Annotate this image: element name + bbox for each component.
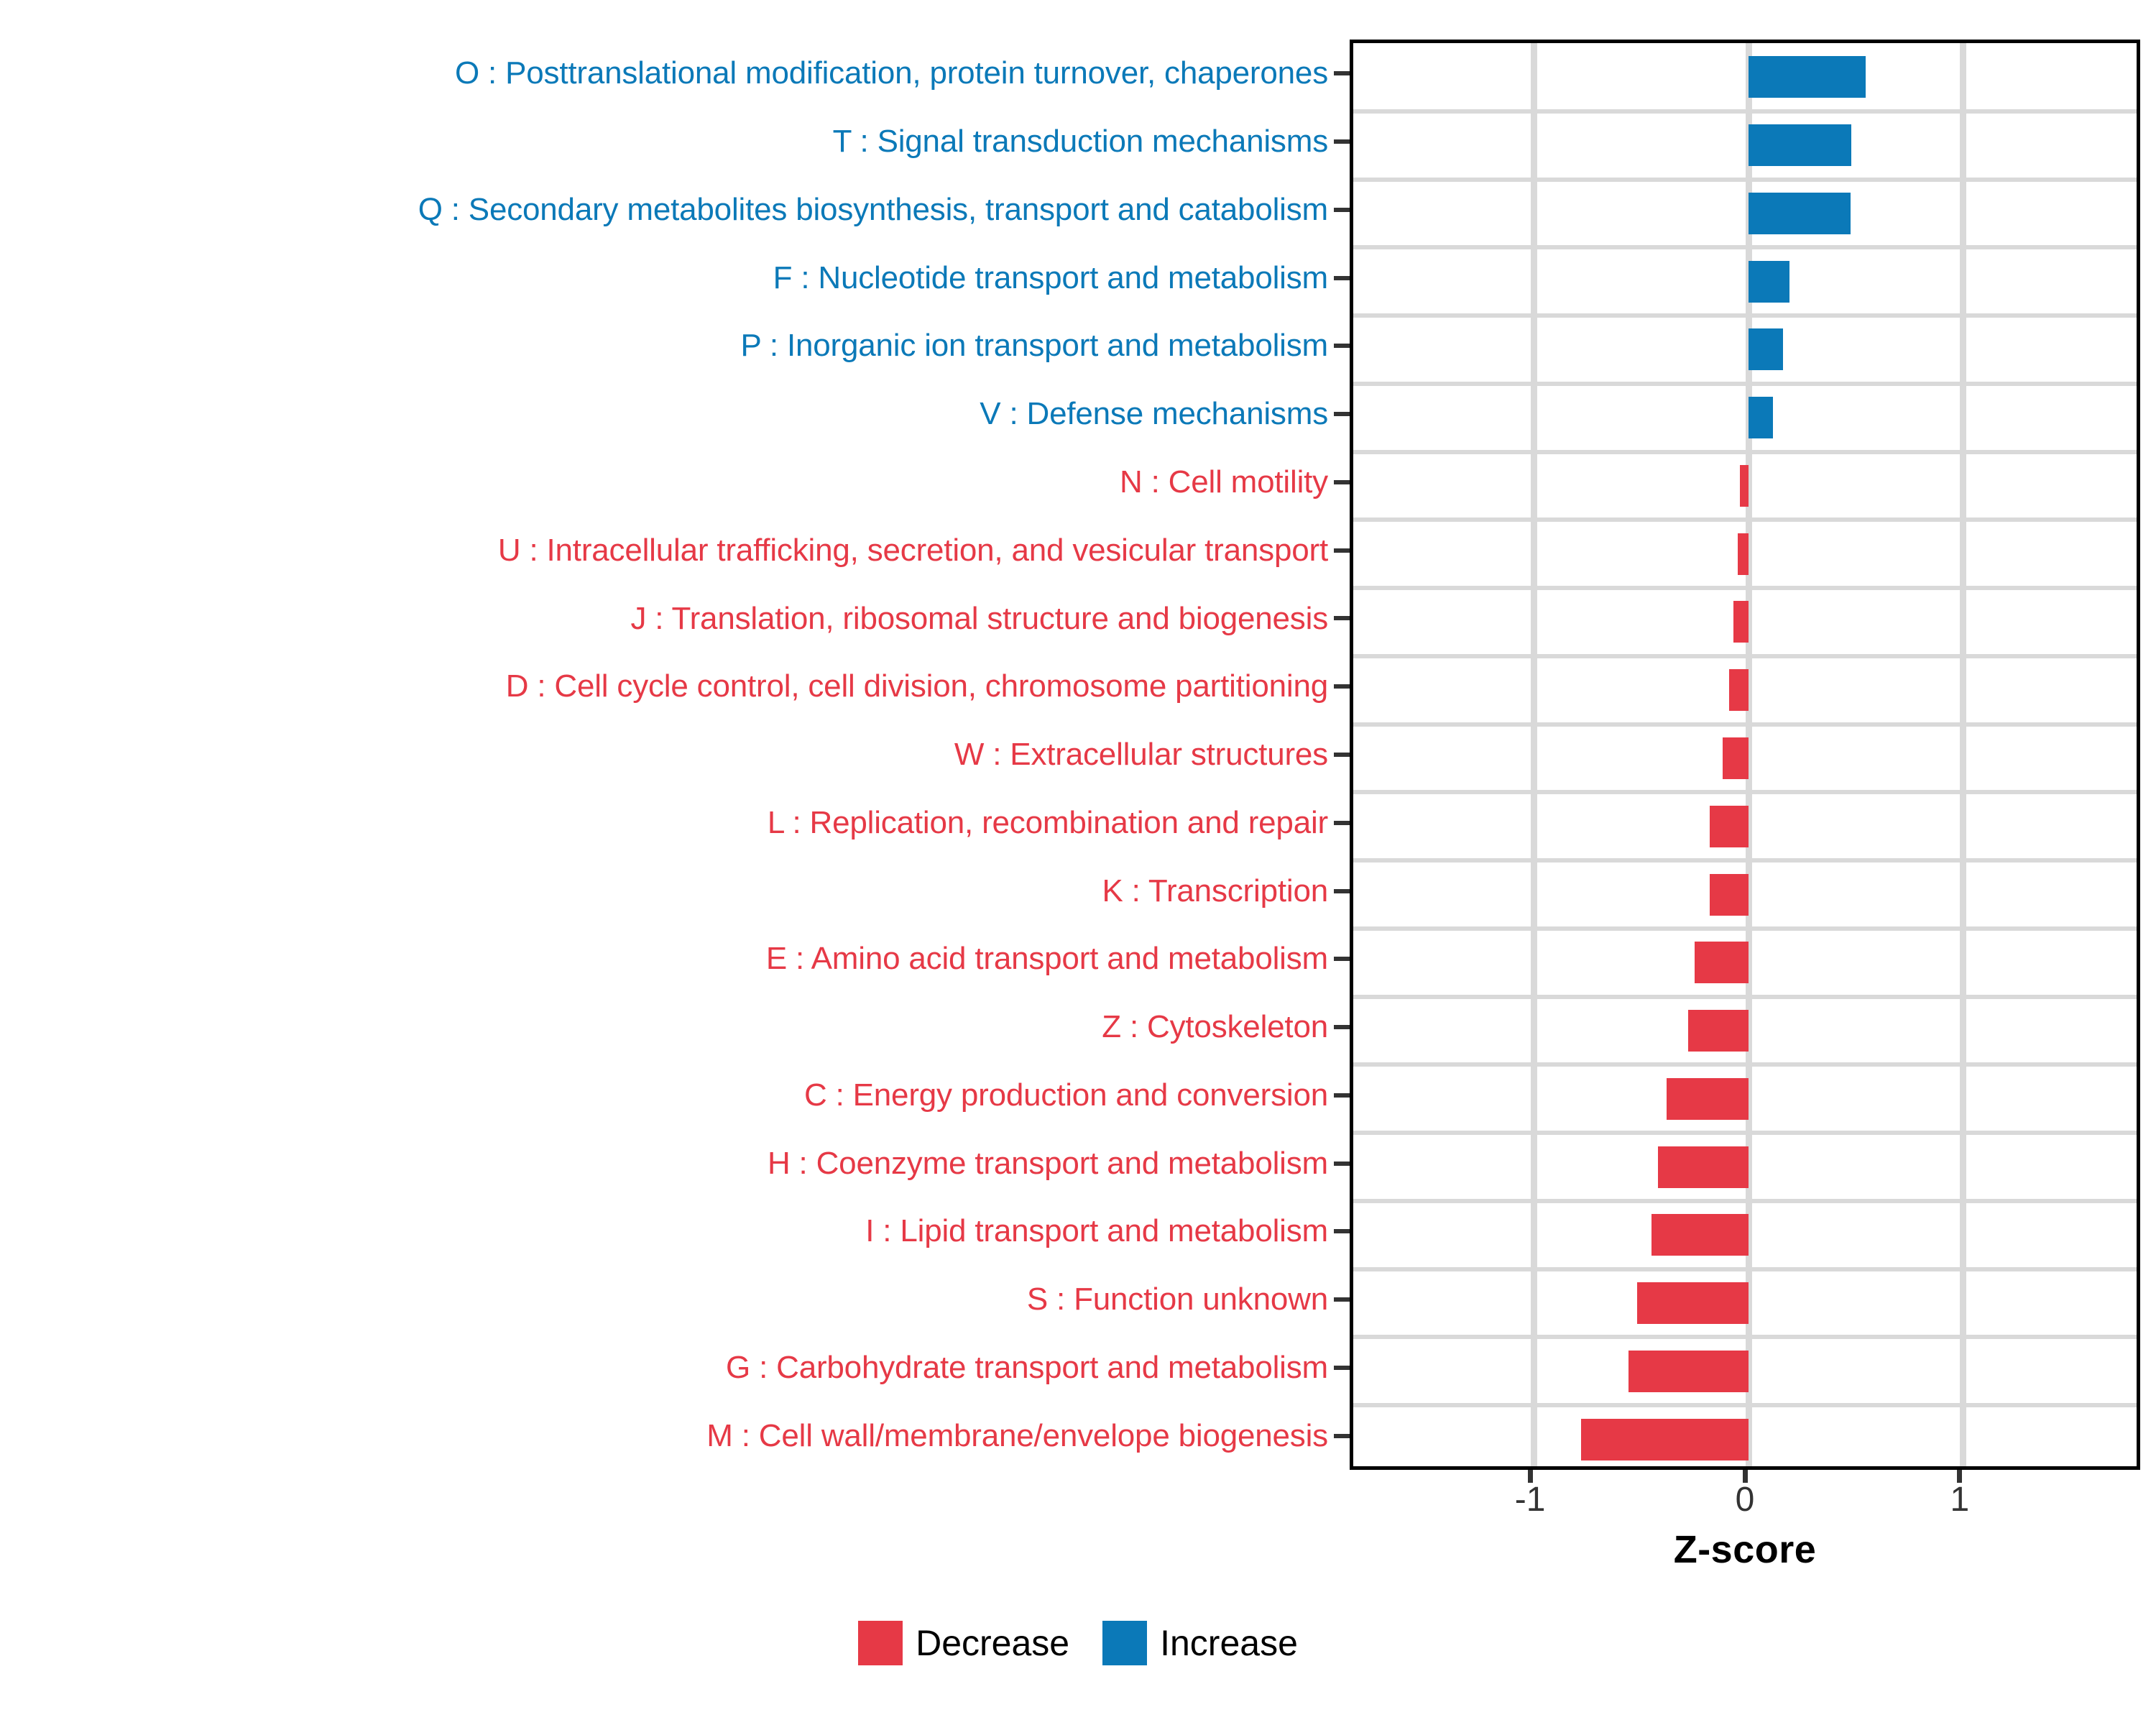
y-axis-label-text: W : Extracellular structures (954, 739, 1328, 770)
y-axis-label-text: S : Function unknown (1027, 1284, 1328, 1315)
y-axis-label: D : Cell cycle control, cell division, c… (29, 653, 1331, 721)
y-axis-label: Q : Secondary metabolites biosynthesis, … (29, 176, 1331, 244)
y-tick-mark (1334, 1297, 1350, 1302)
y-tick-mark (1334, 208, 1350, 212)
bar (1749, 193, 1851, 234)
y-tick-mark (1334, 1025, 1350, 1029)
x-axis-tick-labels: -101 (1350, 1482, 2140, 1525)
y-axis-label-text: K : Transcription (1102, 875, 1328, 907)
y-axis-label: Z : Cytoskeleton (29, 993, 1331, 1062)
bar (1738, 533, 1749, 575)
y-axis-label: M : Cell wall/membrane/envelope biogenes… (29, 1402, 1331, 1470)
bar (1581, 1419, 1749, 1460)
bar (1710, 806, 1749, 847)
y-tick-mark (1334, 616, 1350, 620)
y-axis-tick-marks (1334, 40, 1350, 1470)
y-axis-label-text: M : Cell wall/membrane/envelope biogenes… (706, 1420, 1328, 1452)
y-tick-mark (1334, 1366, 1350, 1370)
bar (1651, 1214, 1749, 1256)
legend-label: Increase (1160, 1625, 1298, 1661)
y-tick-mark (1334, 344, 1350, 348)
y-axis-label-text: P : Inorganic ion transport and metaboli… (741, 330, 1328, 362)
y-axis-label: L : Replication, recombination and repai… (29, 788, 1331, 857)
y-tick-mark (1334, 889, 1350, 893)
y-tick-mark (1334, 480, 1350, 484)
x-tick-label: 0 (1736, 1482, 1755, 1518)
y-axis-label: V : Defense mechanisms (29, 380, 1331, 448)
bar (1723, 737, 1749, 779)
plot-wrapper: O : Posttranslational modification, prot… (0, 0, 2156, 1725)
y-tick-mark (1334, 71, 1350, 75)
y-axis-label: W : Extracellular structures (29, 721, 1331, 789)
bar (1749, 124, 1851, 166)
y-axis-label-text: H : Coenzyme transport and metabolism (768, 1148, 1328, 1179)
y-axis-label-text: O : Posttranslational modification, prot… (455, 57, 1328, 89)
y-tick-mark (1334, 139, 1350, 144)
legend-label: Decrease (916, 1625, 1069, 1661)
y-tick-mark (1334, 1161, 1350, 1166)
bar (1740, 465, 1749, 507)
y-tick-mark (1334, 957, 1350, 961)
y-axis-label-text: V : Defense mechanisms (980, 398, 1328, 430)
y-axis-label-text: D : Cell cycle control, cell division, c… (506, 671, 1328, 702)
bar (1749, 56, 1866, 98)
y-axis-label-text: J : Translation, ribosomal structure and… (630, 603, 1328, 635)
bar (1710, 874, 1749, 916)
bar (1695, 942, 1749, 983)
y-tick-mark (1334, 1434, 1350, 1438)
y-tick-mark (1334, 684, 1350, 689)
vertical-gridline (1960, 43, 1966, 1466)
y-axis-label-text: C : Energy production and conversion (804, 1080, 1328, 1111)
y-axis-label: F : Nucleotide transport and metabolism (29, 244, 1331, 312)
bar (1749, 261, 1789, 303)
y-axis-label: J : Translation, ribosomal structure and… (29, 584, 1331, 653)
y-axis-label-text: F : Nucleotide transport and metabolism (773, 262, 1328, 294)
y-axis-label-text: U : Intracellular trafficking, secretion… (498, 535, 1328, 566)
y-axis-label: S : Function unknown (29, 1266, 1331, 1334)
legend-color-swatch (858, 1621, 903, 1665)
y-axis-label: O : Posttranslational modification, prot… (29, 40, 1331, 108)
y-axis-label: E : Amino acid transport and metabolism (29, 925, 1331, 993)
bar (1637, 1282, 1749, 1324)
bar (1749, 397, 1773, 438)
bar (1749, 328, 1783, 370)
y-axis-label-text: L : Replication, recombination and repai… (768, 807, 1328, 839)
y-tick-mark (1334, 1229, 1350, 1233)
y-tick-mark (1334, 821, 1350, 825)
y-axis-label-text: T : Signal transduction mechanisms (833, 126, 1328, 157)
y-axis-label: T : Signal transduction mechanisms (29, 108, 1331, 176)
chart-legend: DecreaseIncrease (0, 1621, 2156, 1665)
bar (1733, 601, 1749, 643)
bar (1729, 669, 1749, 711)
bar (1688, 1010, 1749, 1052)
bar (1628, 1351, 1749, 1392)
y-axis-label: C : Energy production and conversion (29, 1061, 1331, 1129)
legend-item[interactable]: Increase (1102, 1621, 1298, 1665)
y-axis-label: H : Coenzyme transport and metabolism (29, 1129, 1331, 1197)
cog-zscore-figure: O : Posttranslational modification, prot… (0, 0, 2156, 1725)
y-tick-mark (1334, 1093, 1350, 1098)
y-axis-label: K : Transcription (29, 857, 1331, 925)
y-tick-mark (1334, 276, 1350, 280)
x-tick-label: 1 (1950, 1482, 1970, 1518)
y-axis-label: I : Lipid transport and metabolism (29, 1197, 1331, 1266)
y-axis-category-labels: O : Posttranslational modification, prot… (29, 40, 1331, 1470)
y-tick-mark (1334, 412, 1350, 416)
bar (1667, 1078, 1749, 1120)
legend-color-swatch (1102, 1621, 1147, 1665)
bar (1658, 1146, 1749, 1188)
chart-panel (1350, 40, 2140, 1470)
vertical-gridline (1531, 43, 1537, 1466)
x-tick-label: -1 (1515, 1482, 1546, 1518)
y-axis-label-text: G : Carbohydrate transport and metabolis… (726, 1352, 1328, 1384)
y-tick-mark (1334, 753, 1350, 757)
y-axis-label-text: Q : Secondary metabolites biosynthesis, … (418, 194, 1328, 226)
y-axis-label-text: I : Lipid transport and metabolism (865, 1215, 1328, 1247)
x-axis-title: Z-score (1350, 1527, 2140, 1572)
y-axis-label: G : Carbohydrate transport and metabolis… (29, 1334, 1331, 1402)
y-axis-label-text: E : Amino acid transport and metabolism (766, 943, 1328, 975)
y-tick-mark (1334, 548, 1350, 553)
legend-item[interactable]: Decrease (858, 1621, 1069, 1665)
y-axis-label: U : Intracellular trafficking, secretion… (29, 516, 1331, 584)
y-axis-label: P : Inorganic ion transport and metaboli… (29, 312, 1331, 380)
y-axis-label-text: N : Cell motility (1120, 466, 1328, 498)
y-axis-label: N : Cell motility (29, 448, 1331, 517)
y-axis-label-text: Z : Cytoskeleton (1102, 1011, 1328, 1043)
